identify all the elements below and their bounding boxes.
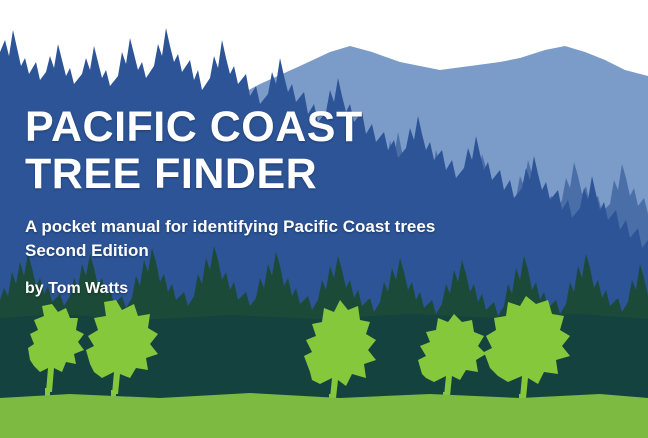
cover-illustration xyxy=(0,0,648,438)
book-cover: PACIFIC COAST TREE FINDER A pocket manua… xyxy=(0,0,648,438)
ground-strip xyxy=(0,393,648,438)
